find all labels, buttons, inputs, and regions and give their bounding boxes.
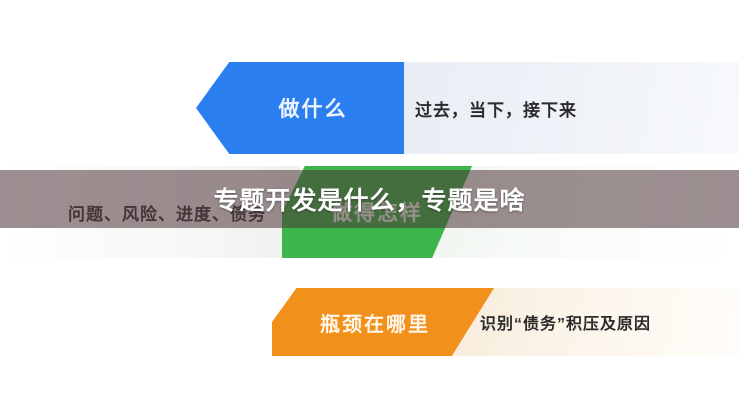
page-title: 专题开发是什么，专题是啥 [213,181,525,217]
title-overlay-bar: 专题开发是什么，专题是啥 [0,170,739,228]
description-panel-what: 过去，当下，接下来 [365,62,739,154]
chevron-label-what: 做什么 [279,93,348,123]
chevron-what[interactable]: 做什么 [196,62,404,154]
description-text-bottleneck: 识别“债务”积压及原因 [480,310,651,334]
diagram-row-what: 过去，当下，接下来 做什么 [0,62,739,154]
diagram-row-bottleneck: 识别“债务”积压及原因 瓶颈在哪里 [0,288,739,356]
chevron-label-bottleneck: 瓶颈在哪里 [320,308,430,337]
diagram-canvas: 过去，当下，接下来 做什么 问题、风险、进度、债务 做得怎样 识别“债务”积压及… [0,0,739,400]
description-panel-bottleneck: 识别“债务”积压及原因 [452,288,739,356]
description-text-what: 过去，当下，接下来 [415,96,577,121]
